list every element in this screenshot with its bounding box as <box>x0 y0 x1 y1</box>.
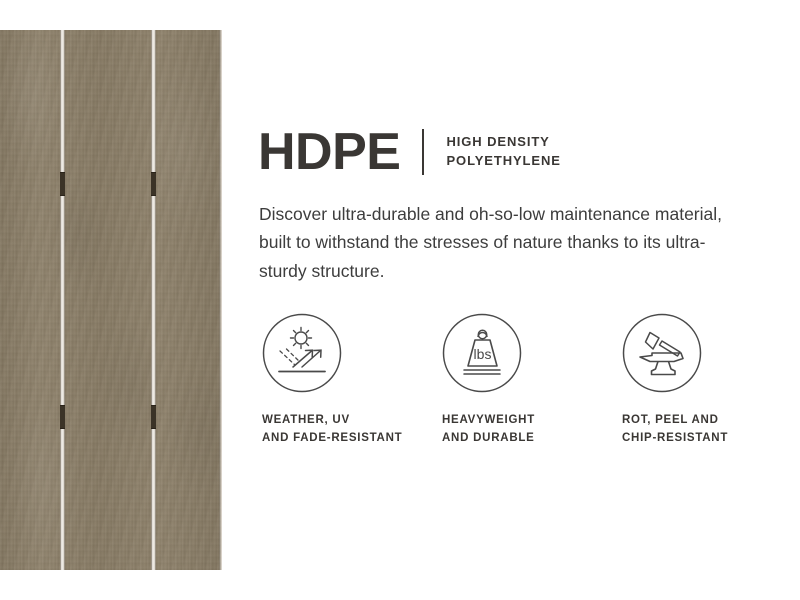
feature-label: HEAVYWEIGHT AND DURABLE <box>442 412 612 448</box>
feature-label: WEATHER, UV AND FADE-RESISTANT <box>262 412 432 448</box>
weight-unit-text: lbs <box>474 346 492 362</box>
sun-fade-resistance-icon <box>262 313 342 393</box>
content-column: HDPE HIGH DENSITY POLYETHYLENE Discover … <box>258 0 778 600</box>
deck-fastener-clip <box>151 172 156 196</box>
deck-panel-right-edge <box>219 30 222 570</box>
deck-fastener-clip <box>151 405 156 429</box>
product-description: Discover ultra-durable and oh-so-low mai… <box>259 200 739 285</box>
feature-label: ROT, PEEL AND CHIP-RESISTANT <box>622 412 792 448</box>
feature-item-weather-uv: WEATHER, UV AND FADE-RESISTANT <box>262 313 432 448</box>
page-title: HDPE <box>258 126 400 178</box>
deck-color-variation-overlay <box>0 30 222 570</box>
product-feature-page: HDPE HIGH DENSITY POLYETHYLENE Discover … <box>0 0 800 600</box>
feature-item-heavyweight: lbs HEAVYWEIGHT AND DURABLE <box>442 313 612 448</box>
hammer-anvil-icon <box>622 313 702 393</box>
deck-boards-image <box>0 30 222 570</box>
product-subtitle: HIGH DENSITY POLYETHYLENE <box>446 133 560 171</box>
deck-fastener-clip <box>60 172 65 196</box>
deck-board-seam-left <box>60 30 65 570</box>
feature-item-rot-chip: ROT, PEEL AND CHIP-RESISTANT <box>622 313 792 448</box>
weight-lbs-icon: lbs <box>442 313 522 393</box>
product-title-row: HDPE HIGH DENSITY POLYETHYLENE <box>258 126 561 178</box>
deck-board-seam-right <box>151 30 156 570</box>
title-divider <box>422 129 424 175</box>
deck-fastener-clip <box>60 405 65 429</box>
